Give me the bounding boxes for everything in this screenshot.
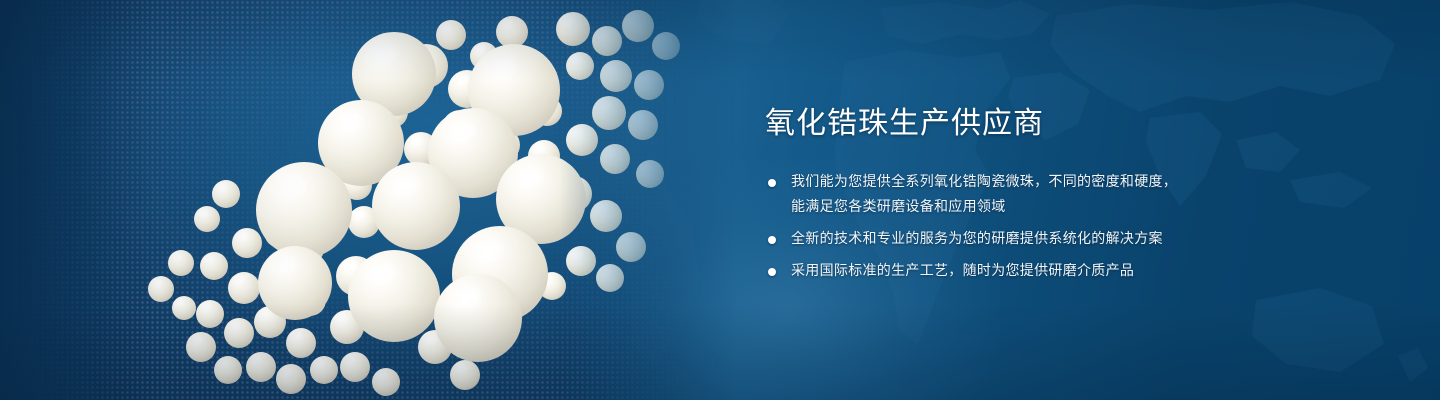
bullet-dot-icon bbox=[768, 268, 776, 276]
list-item-line: 全新的技术和专业的服务为您的研磨提供系统化的解决方案 bbox=[791, 227, 1385, 252]
bullet-dot-icon bbox=[768, 236, 776, 244]
banner-copy: 氧化锆珠生产供应商 我们能为您提供全系列氧化锆陶瓷微珠，不同的密度和硬度， 能满… bbox=[765, 104, 1385, 284]
list-item: 采用国际标准的生产工艺，随时为您提供研磨介质产品 bbox=[765, 259, 1385, 284]
feature-list: 我们能为您提供全系列氧化锆陶瓷微珠，不同的密度和硬度， 能满足您各类研磨设备和应… bbox=[765, 170, 1385, 284]
list-item: 全新的技术和专业的服务为您的研磨提供系统化的解决方案 bbox=[765, 227, 1385, 252]
hero-banner: 氧化锆珠生产供应商 我们能为您提供全系列氧化锆陶瓷微珠，不同的密度和硬度， 能满… bbox=[0, 0, 1440, 400]
list-item: 我们能为您提供全系列氧化锆陶瓷微珠，不同的密度和硬度， 能满足您各类研磨设备和应… bbox=[765, 170, 1385, 220]
list-item-line: 采用国际标准的生产工艺，随时为您提供研磨介质产品 bbox=[791, 259, 1385, 284]
list-item-line: 我们能为您提供全系列氧化锆陶瓷微珠，不同的密度和硬度， bbox=[791, 170, 1385, 195]
bullet-dot-icon bbox=[768, 179, 776, 187]
page-title: 氧化锆珠生产供应商 bbox=[765, 104, 1385, 144]
list-item-line: 能满足您各类研磨设备和应用领域 bbox=[791, 195, 1385, 220]
